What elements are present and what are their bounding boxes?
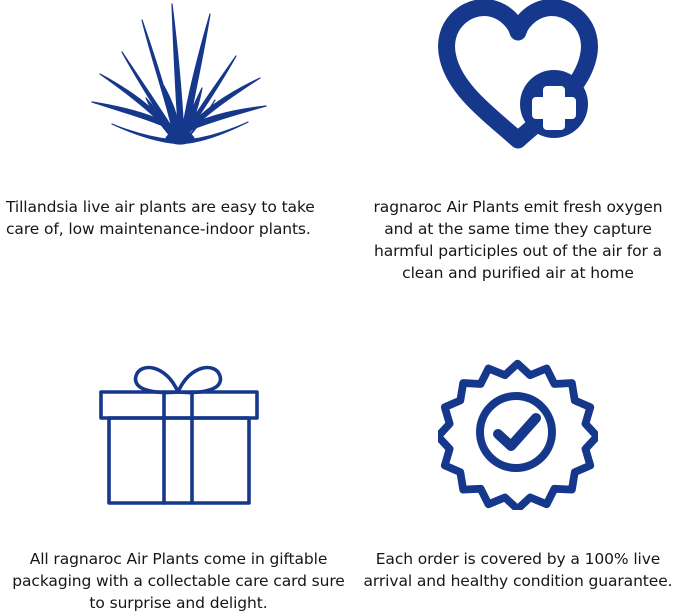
feature-cell-air-plant: Tillandsia live air plants are easy to t… [0,0,357,308]
feature-caption: Each order is covered by a 100% live arr… [357,548,679,592]
verified-badge-icon-wrap [357,308,679,548]
heart-plus-icon [434,0,602,150]
air-plant-icon-wrap [0,0,357,196]
feature-cell-verified-badge: Each order is covered by a 100% live arr… [357,308,679,616]
air-plant-icon [88,0,270,150]
gift-box-icon-wrap [0,308,357,548]
feature-caption: All ragnaroc Air Plants come in giftable… [5,548,353,614]
feature-cell-heart-plus: ragnaroc Air Plants emit fresh oxygen an… [357,0,679,308]
feature-cell-gift-box: All ragnaroc Air Plants come in giftable… [0,308,357,616]
heart-plus-icon-wrap [357,0,679,196]
feature-caption: ragnaroc Air Plants emit fresh oxygen an… [358,196,678,284]
feature-caption: Tillandsia live air plants are easy to t… [2,196,346,240]
verified-badge-check-icon [438,354,598,510]
gift-box-icon [96,354,262,510]
feature-grid: Tillandsia live air plants are easy to t… [0,0,679,616]
